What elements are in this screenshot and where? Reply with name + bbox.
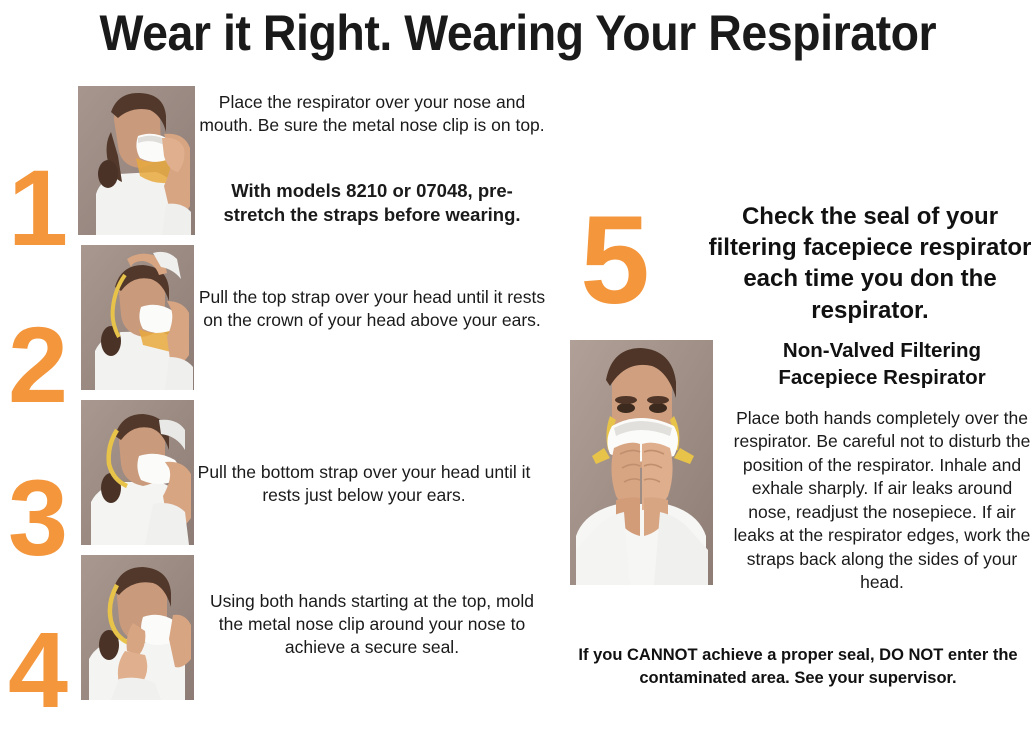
right-column: 5 Check the seal of your filtering facep… — [556, 66, 1036, 712]
step-4-photo — [81, 555, 194, 700]
step-4-photo-image — [81, 555, 194, 700]
step-5-heading: Check the seal of your filtering facepie… — [708, 201, 1032, 326]
step-1-photo — [78, 86, 195, 235]
step-1-photo-image — [78, 86, 195, 235]
step-2-numeral: 2 — [2, 311, 74, 419]
page-header: Wear it Right. Wearing Your Respirator — [0, 0, 1036, 66]
step-3-text: Pull the bottom strap over your head unt… — [188, 461, 540, 507]
page-title: Wear it Right. Wearing Your Respirator — [100, 8, 937, 58]
step-2-photo-image — [81, 245, 194, 390]
step-1-text: Place the respirator over your nose and … — [196, 91, 548, 137]
step-1-numeral: 1 — [2, 154, 74, 262]
left-column: 1 Place the respirator over your nose an… — [0, 66, 556, 712]
step-5-numeral: 5 — [570, 198, 660, 323]
step-4-numeral: 4 — [2, 616, 74, 724]
step-1-emphasis: With models 8210 or 07048, pre-stretch t… — [206, 179, 538, 228]
step-3-numeral: 3 — [2, 464, 74, 572]
step-4-text: Using both hands starting at the top, mo… — [196, 590, 548, 659]
step-5-photo-image — [570, 340, 713, 585]
step-3-photo — [81, 400, 194, 545]
step-5-photo — [570, 340, 713, 585]
step-2-photo — [81, 245, 194, 390]
step-3-photo-image — [81, 400, 194, 545]
step-2-text: Pull the top strap over your head until … — [196, 286, 548, 332]
step-5-subheading: Non-Valved Filtering Facepiece Respirato… — [734, 338, 1030, 391]
step-5-text: Place both hands completely over the res… — [732, 407, 1032, 595]
step-5-warning: If you CANNOT achieve a proper seal, DO … — [564, 644, 1032, 690]
